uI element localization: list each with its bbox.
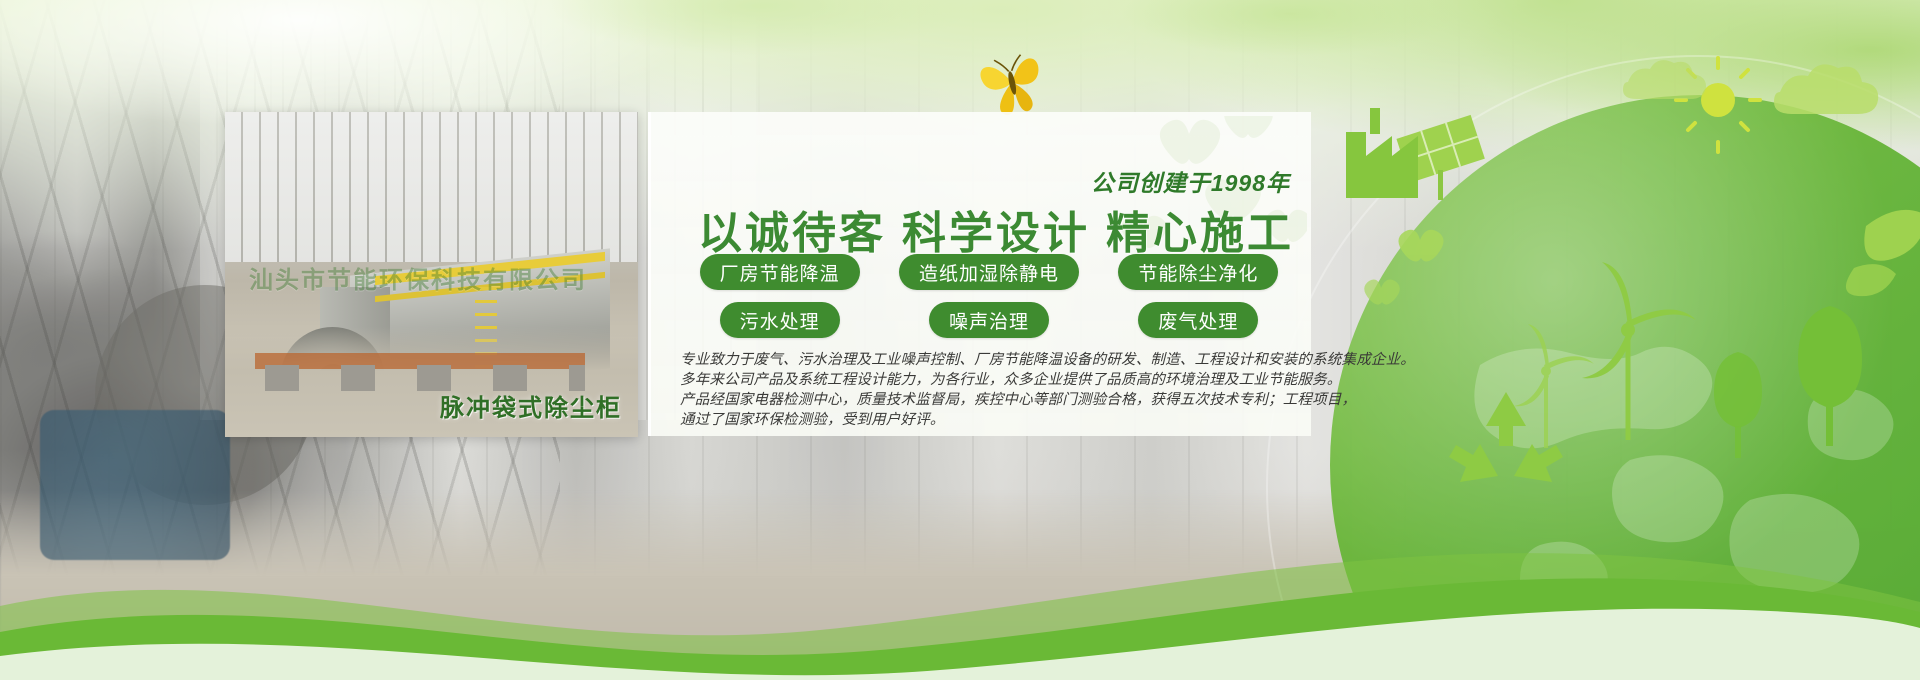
- description-line-4: 通过了国家环保检测验，受到用户好评。: [680, 410, 1300, 430]
- description-line-1: 专业致力于废气、污水治理及工业噪声控制、厂房节能降温设备的研发、制造、工程设计和…: [680, 350, 1300, 370]
- eco-icon-artwork: [1310, 30, 1920, 570]
- leaf-icon: [1846, 210, 1920, 296]
- photo-watermark: 汕头市节能环保科技有限公司: [249, 260, 629, 295]
- service-pill-factory-cooling[interactable]: 厂房节能降温: [700, 254, 860, 290]
- photo-building-wall: [225, 112, 638, 262]
- description-line-3: 产品经国家电器检测中心，质量技术监督局，疾控中心等部门测验合格，获得五次技术专利…: [680, 390, 1300, 410]
- photo-caption: 脉冲袋式除尘柜: [440, 388, 622, 423]
- company-description: 专业致力于废气、污水治理及工业噪声控制、厂房节能降温设备的研发、制造、工程设计和…: [680, 350, 1300, 430]
- wind-turbine-icon: [1514, 324, 1594, 448]
- background-blue-motor: [40, 410, 230, 560]
- service-pill-paper-humidify[interactable]: 造纸加湿除静电: [899, 254, 1079, 290]
- headline-segment-2: 科学设计: [902, 209, 1090, 258]
- headline-segment-3: 精心施工: [1106, 209, 1294, 258]
- service-pill-exhaust-treatment[interactable]: 废气处理: [1138, 302, 1258, 338]
- banner-headline: 以诚待客科学设计精心施工: [648, 197, 1294, 261]
- tree-icon: [1714, 306, 1862, 458]
- product-photo-card: 汕头市节能环保科技有限公司 脉冲袋式除尘柜: [225, 112, 638, 437]
- banner-content: 公司创建于1998年 以诚待客科学设计精心施工 厂房节能降温 造纸加湿除静电 节…: [648, 112, 1308, 436]
- description-line-2: 多年来公司产品及系统工程设计能力，为各行业，众多企业提供了品质高的环境治理及工业…: [680, 370, 1300, 390]
- service-pill-sewage-treatment[interactable]: 污水处理: [720, 302, 840, 338]
- cloud-icon: [1623, 60, 1878, 114]
- service-pill-noise-control[interactable]: 噪声治理: [929, 302, 1049, 338]
- factory-icon: [1346, 108, 1418, 198]
- banner-subtitle: 公司创建于1998年: [1091, 164, 1290, 198]
- green-butterflies-icon: [1364, 230, 1443, 305]
- service-pill-list: 厂房节能降温 造纸加湿除静电 节能除尘净化 污水处理 噪声治理 废气处理: [684, 254, 1294, 338]
- yellow-butterfly-icon: [975, 45, 1049, 119]
- service-pill-dust-purification[interactable]: 节能除尘净化: [1118, 254, 1278, 290]
- headline-segment-1: 以诚待客: [698, 209, 886, 258]
- wind-turbine-icon: [1582, 262, 1696, 440]
- promotional-banner: 汕头市节能环保科技有限公司 脉冲袋式除尘柜 公司创建于1998年 以诚待客科学设…: [0, 0, 1920, 680]
